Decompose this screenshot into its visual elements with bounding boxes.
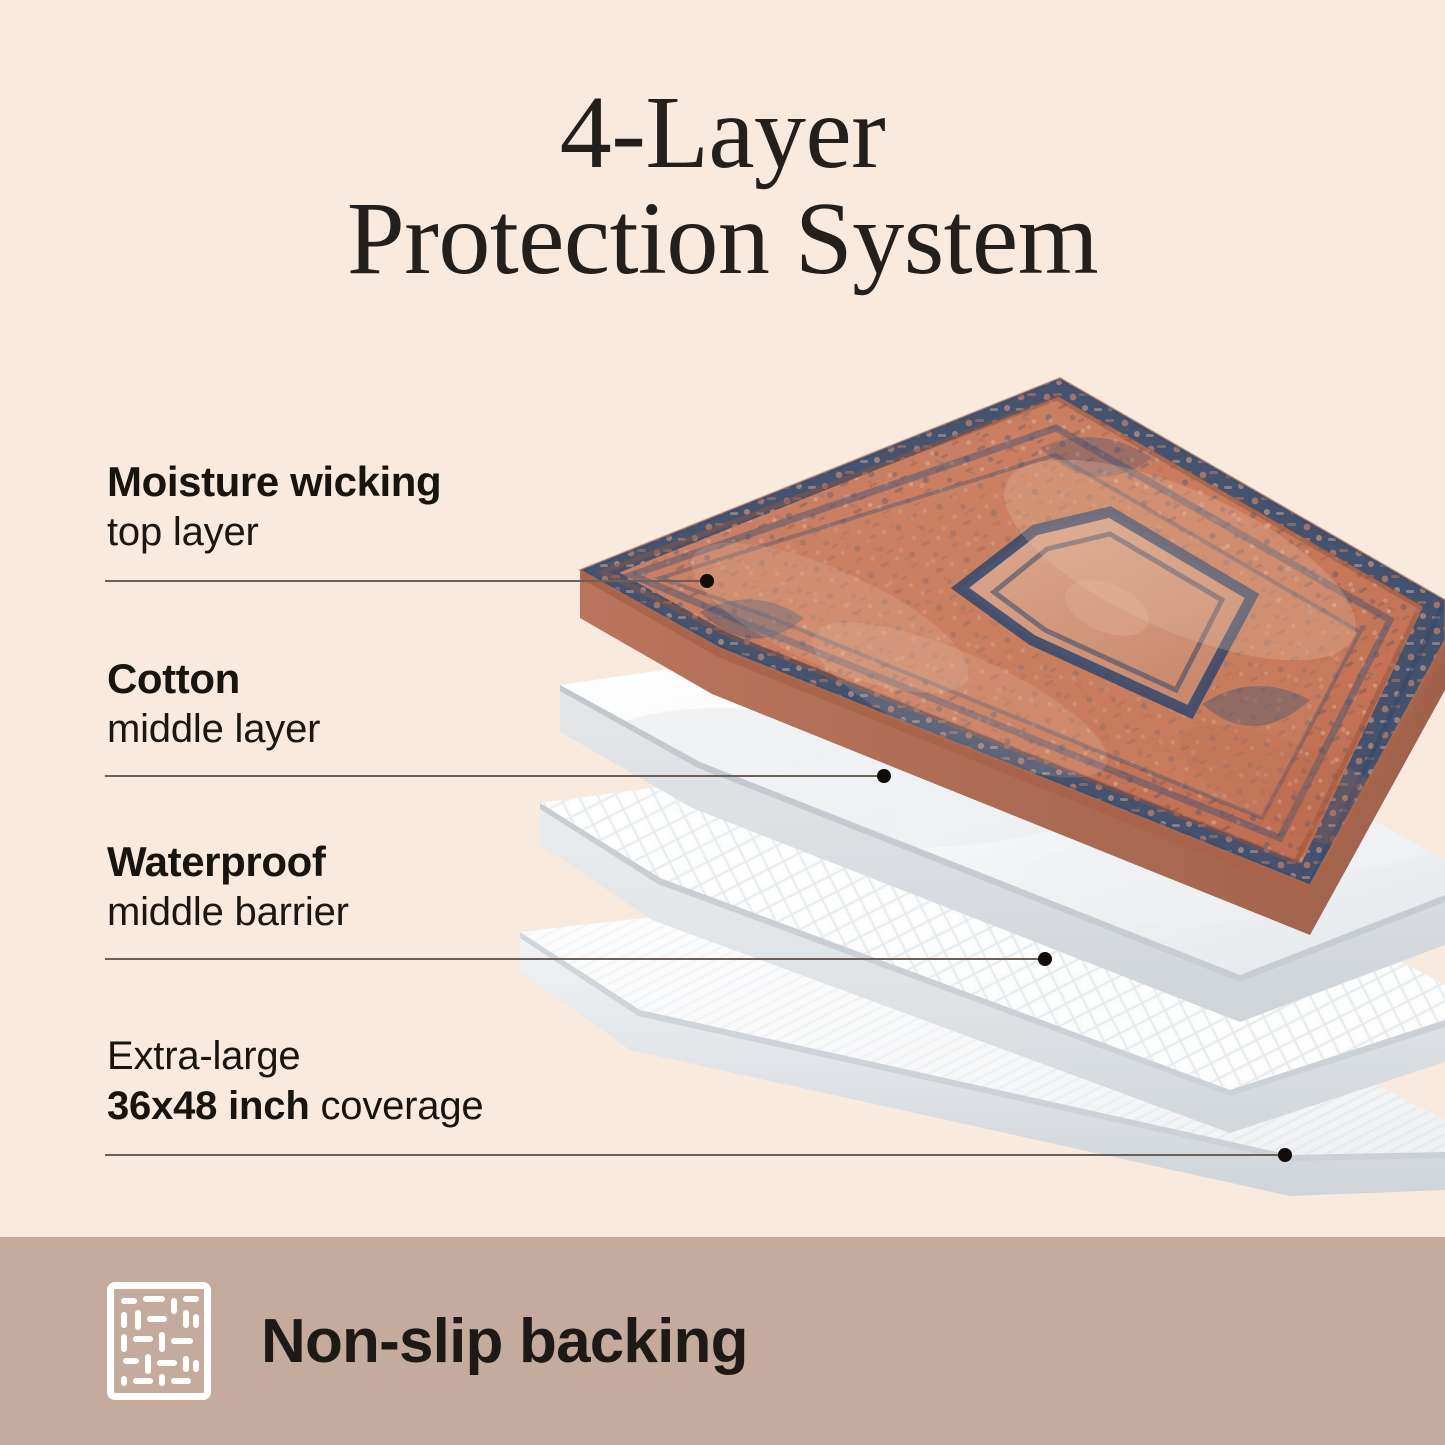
non-slip-backing-label: Non-slip backing: [261, 1306, 748, 1377]
callout-size-dimensions: 36x48 inch: [107, 1084, 310, 1128]
callout-title-cotton: Cotton: [107, 655, 320, 702]
callout-moisture-wicking: Moisture wicking top layer: [107, 458, 441, 555]
title-line-1: 4-Layer: [0, 78, 1445, 188]
page-title: 4-Layer Protection System: [0, 78, 1445, 294]
leader-line-cotton: [105, 775, 884, 777]
stack-layer-waterproof: [540, 742, 1445, 1133]
leader-dot-moisture-wicking: [700, 574, 714, 588]
stack-layer-backing: [520, 880, 1445, 1196]
callout-title-waterproof: Waterproof: [107, 838, 349, 885]
callout-subtitle-waterproof: middle barrier: [107, 889, 349, 935]
leader-dot-waterproof: [1038, 952, 1052, 966]
callout-subtitle-cotton: middle layer: [107, 706, 320, 752]
leader-line-moisture-wicking: [105, 580, 707, 582]
leader-dot-extra-large-coverage: [1278, 1148, 1292, 1162]
callout-size-line-b: 36x48 inch coverage: [107, 1083, 483, 1129]
callout-waterproof: Waterproof middle barrier: [107, 838, 349, 935]
callout-subtitle-moisture-wicking: top layer: [107, 509, 441, 555]
stack-layer-rug-top: [580, 378, 1445, 935]
title-line-2: Protection System: [0, 184, 1445, 294]
callout-cotton: Cotton middle layer: [107, 655, 320, 752]
stack-layer-cotton: [560, 620, 1445, 1022]
leader-line-extra-large-coverage: [105, 1154, 1285, 1156]
callout-extra-large-coverage: Extra-large 36x48 inch coverage: [107, 1033, 483, 1130]
infographic-canvas: 4-Layer Protection System: [0, 0, 1445, 1445]
leader-dot-cotton: [877, 769, 891, 783]
non-slip-backing-bar: Non-slip backing: [0, 1237, 1445, 1445]
non-slip-weave-icon: [107, 1282, 211, 1400]
leader-line-waterproof: [105, 958, 1045, 960]
callout-size-coverage-word: coverage: [310, 1084, 484, 1128]
callout-title-moisture-wicking: Moisture wicking: [107, 458, 441, 505]
callout-size-line-a: Extra-large: [107, 1033, 483, 1079]
